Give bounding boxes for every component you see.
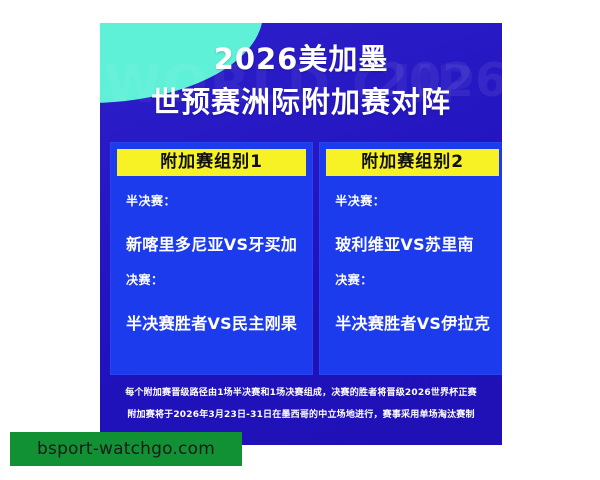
footer-notes: 每个附加赛晋级路径由1场半决赛和1场决赛组成，决赛的胜者将晋级2026世界杯正赛…: [100, 389, 502, 421]
group-panel-1: 附加赛组别1 半决赛： 新喀里多尼亚VS牙买加 决赛： 半决赛胜者VS民主刚果: [110, 142, 313, 375]
footer-note-line-2: 附加赛将于2026年3月23日-31日在墨西哥的中立场地进行，赛事采用单场淘汰赛…: [100, 411, 502, 421]
site-watermark-badge: bsport-watchgo.com: [10, 432, 242, 466]
group-2-semifinal-match: 玻利维亚VS苏里南: [335, 231, 490, 255]
group-2-final: 决赛： 半决赛胜者VS伊拉克: [319, 271, 502, 334]
group-2-banner: 附加赛组别2: [326, 149, 499, 176]
poster-title: 2026美加墨 世预赛洲际附加赛对阵: [100, 23, 502, 120]
group-2-final-match: 半决赛胜者VS伊拉克: [335, 310, 490, 334]
groups-container: 附加赛组别1 半决赛： 新喀里多尼亚VS牙买加 决赛： 半决赛胜者VS民主刚果 …: [110, 142, 492, 375]
group-1-final-label: 决赛：: [126, 271, 297, 288]
group-1-semifinal-label: 半决赛：: [126, 192, 297, 209]
group-panel-2: 附加赛组别2 半决赛： 玻利维亚VS苏里南 决赛： 半决赛胜者VS伊拉克: [319, 142, 502, 375]
group-1-semifinal-match: 新喀里多尼亚VS牙买加: [126, 231, 297, 255]
group-1-final-match: 半决赛胜者VS民主刚果: [126, 310, 297, 334]
tournament-poster: WORLD CUP 2026 2026美加墨 世预赛洲际附加赛对阵 附加赛组别1…: [100, 23, 502, 445]
group-1-final: 决赛： 半决赛胜者VS民主刚果: [110, 271, 313, 334]
group-2-final-label: 决赛：: [335, 271, 490, 288]
group-1-banner-label: 附加赛组别1: [160, 154, 263, 171]
group-1-semifinal: 半决赛： 新喀里多尼亚VS牙买加: [110, 192, 313, 255]
site-watermark-text: bsport-watchgo.com: [37, 439, 215, 459]
title-line-1: 2026美加墨: [100, 43, 502, 76]
group-2-semifinal: 半决赛： 玻利维亚VS苏里南: [319, 192, 502, 255]
title-line-2: 世预赛洲际附加赛对阵: [100, 86, 502, 119]
group-1-banner: 附加赛组别1: [117, 149, 306, 176]
group-2-semifinal-label: 半决赛：: [335, 192, 490, 209]
page-canvas: WORLD CUP 2026 2026美加墨 世预赛洲际附加赛对阵 附加赛组别1…: [0, 0, 600, 480]
footer-note-line-1: 每个附加赛晋级路径由1场半决赛和1场决赛组成，决赛的胜者将晋级2026世界杯正赛: [100, 389, 502, 399]
group-2-banner-label: 附加赛组别2: [361, 154, 464, 171]
